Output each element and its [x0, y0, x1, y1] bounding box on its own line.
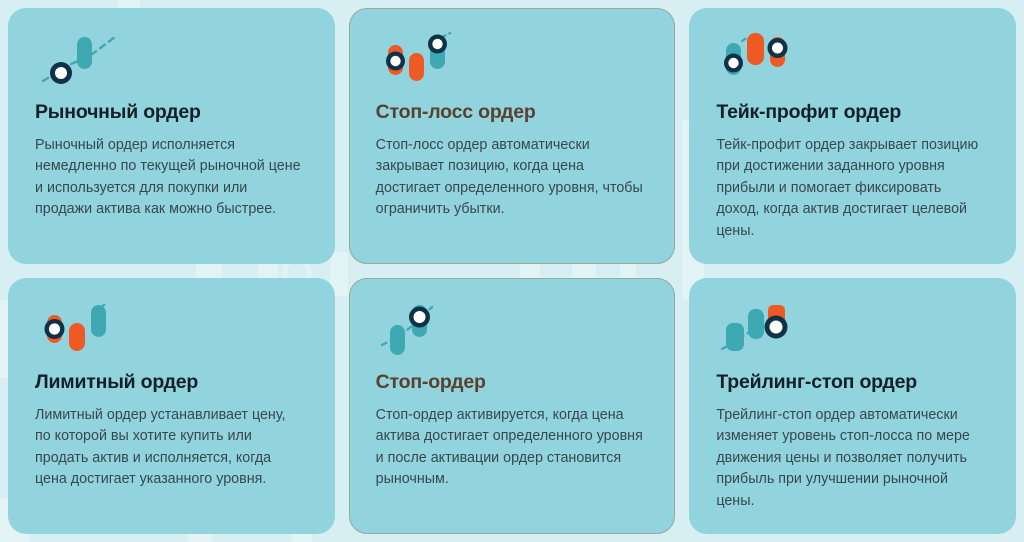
card-body: Стоп-лосс ордер автоматически закрывает … [376, 135, 644, 221]
card-title: Стоп-лосс ордер [376, 101, 649, 124]
card-limit-order[interactable]: Лимитный ордер Лимитный ордер устанавлив… [8, 278, 335, 534]
order-types-card-grid: Рыночный ордер Рыночный ордер исполняетс… [8, 8, 1016, 534]
card-body: Трейлинг-стоп ордер автоматически изменя… [716, 405, 984, 512]
card-stop-loss-order[interactable]: Стоп-лосс ордер Стоп-лосс ордер автомати… [349, 8, 676, 264]
card-title: Трейлинг-стоп ордер [716, 371, 989, 394]
card-title: Рыночный ордер [35, 101, 308, 124]
card-trailing-stop-order[interactable]: Трейлинг-стоп ордер Трейлинг-стоп ордер … [689, 278, 1016, 534]
card-body: Рыночный ордер исполняется немедленно по… [35, 135, 303, 221]
candlestick-chart-target-icon [720, 31, 806, 89]
candlestick-chart-limit-icon [39, 301, 125, 359]
card-stop-order[interactable]: Стоп-ордер Стоп-ордер активируется, когд… [349, 278, 676, 534]
card-title: Лимитный ордер [35, 371, 308, 394]
card-body: Стоп-ордер активируется, когда цена акти… [376, 405, 644, 491]
card-market-order[interactable]: Рыночный ордер Рыночный ордер исполняетс… [8, 8, 335, 264]
card-title: Стоп-ордер [376, 371, 649, 394]
card-body: Тейк-профит ордер закрывает позицию при … [716, 135, 984, 242]
candlestick-chart-mixed-icon [380, 31, 466, 89]
card-take-profit-order[interactable]: Тейк-профит ордер Тейк-профит ордер закр… [689, 8, 1016, 264]
card-body: Лимитный ордер устанавливает цену, по ко… [35, 405, 303, 491]
candlestick-chart-trailing-icon [720, 301, 806, 359]
candlestick-chart-up-icon [39, 31, 125, 89]
card-title: Тейк-профит ордер [716, 101, 989, 124]
candlestick-chart-trigger-icon [380, 301, 466, 359]
